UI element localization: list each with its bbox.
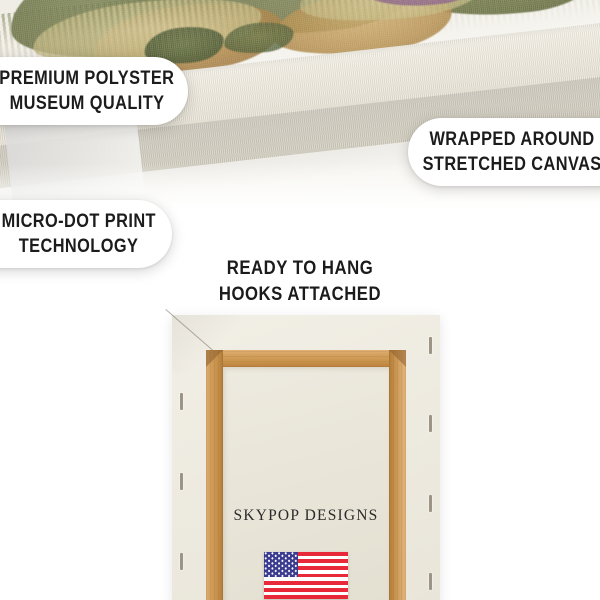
stretcher-bar-top — [206, 350, 406, 367]
canvas-inner-back: SKYPOP DESIGNS — [223, 367, 389, 600]
staple — [180, 473, 183, 490]
callout-line-2: STRETCHED CANVAS — [422, 152, 600, 177]
staple — [429, 337, 432, 354]
wooden-stretcher-frame: SKYPOP DESIGNS — [206, 350, 406, 600]
staple — [429, 495, 432, 512]
callout-line-1: MICRO-DOT PRINT — [2, 209, 156, 234]
callout-line-1: WRAPPED AROUND — [429, 127, 594, 152]
stretcher-bar-right — [389, 350, 406, 600]
product-feature-image: PREMIUM POLYSTER MUSEUM QUALITY WRAPPED … — [0, 0, 600, 600]
wood-grain — [206, 350, 406, 367]
callout-premium-polyster: PREMIUM POLYSTER MUSEUM QUALITY — [0, 57, 188, 125]
staple — [180, 553, 183, 570]
callout-wrapped-around: WRAPPED AROUND STRETCHED CANVAS — [408, 118, 600, 186]
frame-miter-joint-left — [206, 350, 223, 367]
callout-line-1: PREMIUM POLYSTER — [0, 66, 175, 91]
stretcher-bar-left — [206, 350, 223, 600]
frame-miter-joint-right — [389, 350, 406, 367]
heading-line-1: READY TO HANG — [36, 256, 564, 282]
us-flag-icon — [264, 552, 348, 599]
callout-line-2: MUSEUM QUALITY — [10, 91, 165, 116]
staple — [180, 393, 183, 410]
brand-name: SKYPOP DESIGNS — [223, 507, 389, 525]
ready-to-hang-heading: READY TO HANG HOOKS ATTACHED — [0, 256, 600, 308]
flag-stars — [264, 552, 298, 577]
flag-canton — [264, 552, 298, 577]
heading-line-2: HOOKS ATTACHED — [36, 282, 564, 308]
wood-grain — [389, 350, 406, 600]
staple — [429, 573, 432, 590]
staple — [429, 415, 432, 432]
wood-grain — [206, 350, 223, 600]
